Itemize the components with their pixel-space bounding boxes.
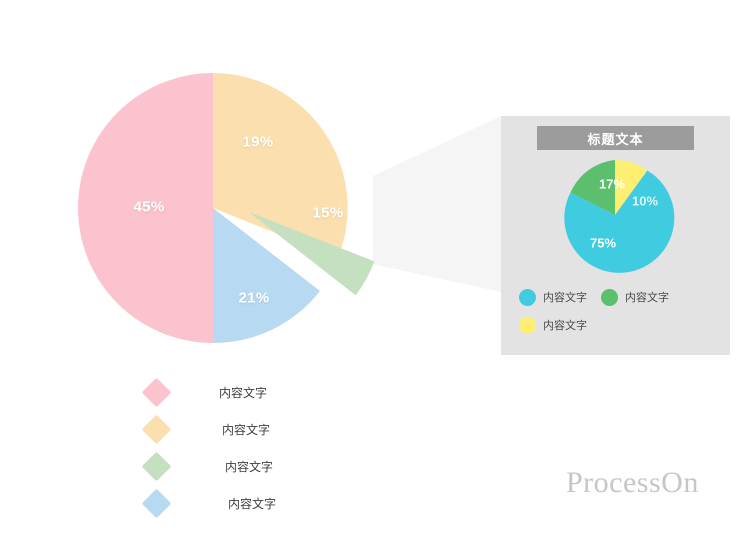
- detail-chart-legend: 内容文字 内容文字 内容文字: [519, 283, 719, 339]
- legend-item[interactable]: 内容文字: [146, 411, 376, 448]
- legend-item-label: 内容文字: [625, 289, 669, 305]
- chart-canvas: 45% 19% 15% 21% 内容文字 内容文字 内容文字 内容文字 标题文本: [0, 0, 740, 541]
- legend-item[interactable]: 内容文字: [146, 374, 376, 411]
- legend-item-label: 内容文字: [543, 317, 587, 333]
- legend-item[interactable]: 内容文字: [519, 289, 587, 306]
- pie-slice-pink[interactable]: [78, 73, 213, 343]
- legend-circle-marker: [519, 289, 536, 306]
- legend-item-label: 内容文字: [222, 421, 270, 438]
- legend-diamond-marker: [142, 415, 172, 445]
- legend-item[interactable]: 内容文字: [601, 289, 669, 306]
- processon-watermark: ProcessOn: [566, 466, 699, 500]
- legend-diamond-marker: [142, 378, 172, 408]
- legend-item[interactable]: 内容文字: [146, 448, 376, 485]
- legend-item[interactable]: 内容文字: [519, 317, 587, 334]
- legend-item[interactable]: 内容文字: [146, 485, 376, 522]
- legend-circle-marker: [601, 289, 618, 306]
- main-chart-legend: 内容文字 内容文字 内容文字 内容文字: [146, 374, 376, 522]
- legend-row: 内容文字 内容文字: [519, 283, 719, 311]
- legend-diamond-marker: [142, 489, 172, 519]
- legend-diamond-marker: [142, 452, 172, 482]
- legend-row: 内容文字: [519, 311, 719, 339]
- legend-circle-marker: [519, 317, 536, 334]
- legend-item-label: 内容文字: [543, 289, 587, 305]
- legend-item-label: 内容文字: [219, 384, 267, 401]
- legend-item-label: 内容文字: [228, 495, 276, 512]
- legend-item-label: 内容文字: [225, 458, 273, 475]
